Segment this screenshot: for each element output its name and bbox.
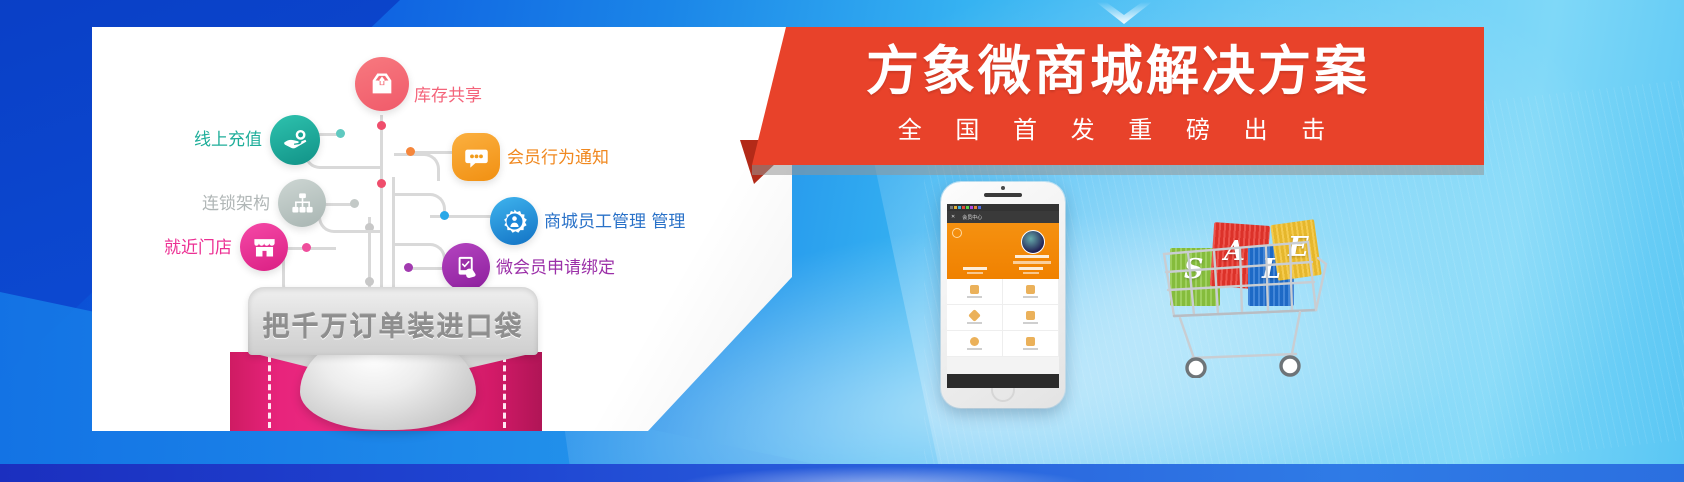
tablet-check-icon — [453, 254, 479, 280]
phone-nav-bar[interactable]: ✕ 会员中心 — [947, 211, 1059, 223]
gear-user-icon — [500, 207, 529, 236]
phone-menu-icon — [1026, 337, 1035, 346]
phone-mockup: ✕ 会员中心 — [941, 182, 1065, 408]
node-icon-member-notify[interactable] — [452, 133, 500, 181]
phone-menu-icon — [970, 337, 979, 346]
phone-soft-key-bar — [947, 374, 1059, 388]
trunk-dot-2 — [377, 179, 386, 188]
phone-menu-icon — [1026, 311, 1035, 320]
phone-member-name — [1015, 255, 1049, 258]
phone-menu-grid — [947, 279, 1059, 357]
branch-path-staff — [394, 193, 446, 217]
phone-menu-cell[interactable] — [947, 305, 1003, 331]
bottom-glow — [674, 466, 1094, 482]
node-icon-nearby-store[interactable] — [240, 223, 288, 271]
phone-stats-row — [947, 267, 1059, 274]
phone-menu-cell[interactable] — [1003, 305, 1059, 331]
phone-menu-cell[interactable] — [1003, 279, 1059, 305]
branch-path-chain — [318, 205, 380, 233]
hand-coin-icon — [281, 126, 309, 154]
branch-dot-recharge — [336, 129, 345, 138]
branch-dot-notify — [406, 147, 415, 156]
cart-wheel-right — [1281, 357, 1299, 375]
banner-root: 库存共享 线上充值 连锁架构 — [0, 0, 1684, 482]
chat-bubble-icon — [463, 144, 490, 171]
headline-title: 方象微商城解决方案 — [752, 41, 1484, 103]
branch-dot-staff — [440, 211, 449, 220]
pedestal-dash-right — [503, 356, 506, 428]
chevron-down-icon — [1096, 2, 1152, 24]
phone-stat-item — [947, 267, 1003, 274]
node-label-inventory-share: 库存共享 — [414, 85, 482, 107]
ribbon-drop-shadow — [752, 165, 1484, 175]
tagline-text: 把千万订单装进口袋 — [248, 305, 538, 344]
phone-speaker — [984, 193, 1022, 197]
phone-status-bar — [947, 204, 1059, 211]
phone-close-icon[interactable]: ✕ — [951, 214, 955, 220]
node-icon-chain-structure[interactable] — [278, 179, 326, 227]
phone-nav-title: 会员中心 — [962, 214, 982, 221]
phone-menu-icon — [1026, 285, 1035, 294]
node-label-chain-structure: 连锁架构 — [112, 193, 270, 215]
storefront-icon — [251, 234, 278, 261]
phone-badge-icon — [952, 228, 962, 238]
node-label-staff-management: 商城员工管理 管理 — [544, 211, 685, 233]
branch-dot-chain — [350, 199, 359, 208]
node-label-member-binding: 微会员申请绑定 — [496, 257, 615, 279]
headline-subtitle: 全 国 首 发 重 磅 出 击 — [752, 113, 1484, 147]
cart-wheel-left — [1187, 359, 1205, 377]
node-icon-member-binding[interactable] — [442, 243, 490, 291]
cart-frame-icon — [1140, 218, 1330, 378]
phone-member-level — [1013, 261, 1051, 264]
branch-dot-bind — [404, 263, 413, 272]
branch-path-notify — [394, 153, 440, 181]
node-icon-staff-management[interactable] — [490, 197, 538, 245]
phone-stat-item — [1003, 267, 1059, 274]
phone-menu-icon — [970, 285, 979, 294]
phone-menu-cell[interactable] — [947, 279, 1003, 305]
inbox-upload-icon — [368, 70, 396, 98]
pedestal-dash-left — [268, 356, 271, 428]
node-label-online-recharge: 线上充值 — [102, 129, 262, 151]
phone-menu-icon — [968, 309, 981, 322]
branch-dot-store — [302, 243, 311, 252]
node-icon-inventory-share[interactable] — [355, 57, 409, 111]
branch-stub-notify — [410, 151, 452, 154]
node-icon-online-recharge[interactable] — [270, 115, 320, 165]
phone-screen: ✕ 会员中心 — [947, 204, 1059, 374]
node-label-member-notify: 会员行为通知 — [507, 147, 609, 169]
shopping-cart-illustration: S A L E — [1140, 218, 1330, 378]
headline-ribbon: 方象微商城解决方案 全 国 首 发 重 磅 出 击 — [752, 27, 1484, 165]
phone-avatar — [1021, 230, 1045, 254]
node-label-nearby-store: 就近门店 — [82, 237, 232, 259]
phone-menu-cell[interactable] — [1003, 331, 1059, 357]
phone-menu-cell[interactable] — [947, 331, 1003, 357]
phone-camera-icon — [1001, 186, 1005, 190]
phone-member-hero — [947, 223, 1059, 279]
phone-home-button[interactable] — [991, 388, 1015, 402]
trunk-dot-1 — [377, 121, 386, 130]
org-chart-icon — [289, 190, 316, 217]
